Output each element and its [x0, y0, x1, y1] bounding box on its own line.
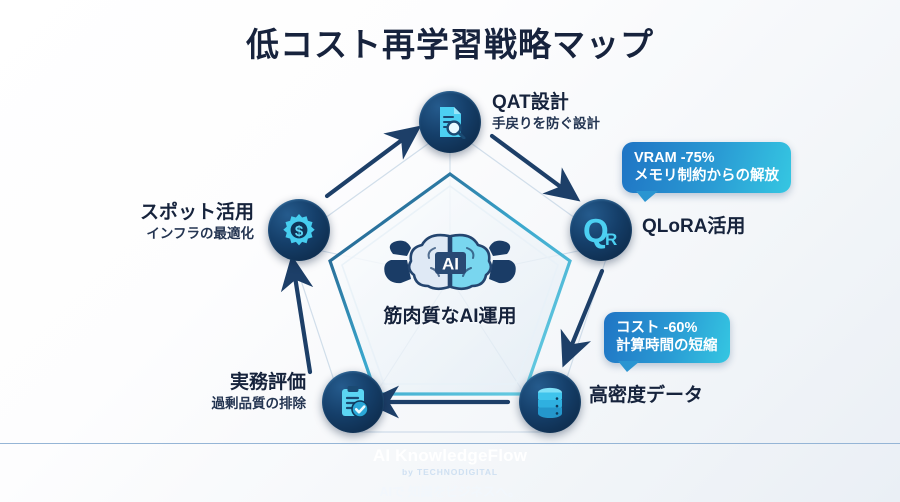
clipboard-check-icon	[337, 385, 369, 419]
node-qlora-title: QLoRA活用	[642, 216, 745, 238]
node-spot-title: スポット活用	[40, 202, 254, 224]
node-qat-subtitle: 手戻りを防ぐ設計	[492, 116, 600, 132]
node-qat[interactable]	[419, 91, 481, 153]
callout-vram: VRAM -75% メモリ制約からの解放	[622, 142, 791, 193]
node-qat-title: QAT設計	[492, 92, 600, 114]
gear-dollar-icon: $	[282, 213, 316, 247]
node-spot-subtitle: インフラの最適化	[40, 226, 254, 242]
svg-text:R: R	[605, 230, 617, 249]
node-review-subtitle: 過剰品質の排除	[78, 396, 306, 412]
node-data[interactable]	[519, 371, 581, 433]
footer-tagline: AIで 知識をビジネスへ。	[380, 481, 521, 500]
center-concept: AI 筋肉質なAI運用	[375, 228, 525, 328]
arrow-qlora-to-data	[566, 271, 602, 359]
node-spot[interactable]: $	[268, 199, 330, 261]
node-review-title: 実務評価	[78, 372, 306, 394]
label-review: 実務評価 過剰品質の排除	[78, 372, 306, 412]
svg-text:$: $	[295, 223, 304, 240]
center-icon-text: AI	[442, 255, 459, 274]
footer-brand: AI KnowledgeFlow	[373, 447, 527, 466]
label-spot: スポット活用 インフラの最適化	[40, 202, 254, 242]
callout-vram-line1: VRAM -75%	[634, 149, 779, 167]
callout-cost: コスト -60% 計算時間の短縮	[604, 312, 730, 363]
database-icon	[534, 386, 566, 418]
callout-vram-line2: メモリ制約からの解放	[634, 167, 779, 185]
node-qlora[interactable]: Q R	[570, 199, 632, 261]
node-data-title: 高密度データ	[589, 385, 703, 407]
node-review[interactable]	[322, 371, 384, 433]
document-search-icon	[433, 105, 467, 139]
slide-canvas: 低コスト再学習戦略マップ	[0, 0, 900, 502]
center-label: 筋肉質なAI運用	[375, 301, 525, 328]
label-qat: QAT設計 手戻りを防ぐ設計	[492, 92, 600, 132]
callout-cost-line1: コスト -60%	[616, 319, 718, 337]
callout-cost-line2: 計算時間の短縮	[616, 337, 718, 355]
label-data: 高密度データ	[589, 385, 703, 407]
brain-muscle-ai-icon: AI	[375, 228, 525, 294]
label-qlora: QLoRA活用	[642, 216, 745, 238]
footer-byline: by TECHNODIGITAL	[402, 467, 498, 477]
qlora-badge-icon: Q R	[580, 211, 622, 249]
footer-bar: AI KnowledgeFlow by TECHNODIGITAL AIで 知識…	[0, 443, 900, 502]
